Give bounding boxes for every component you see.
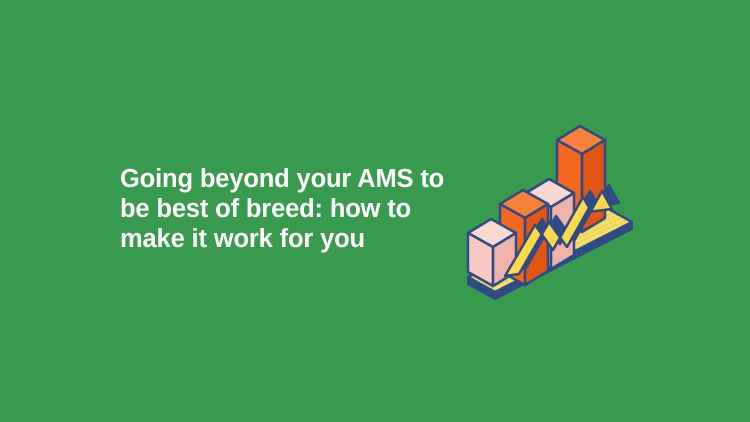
title-block: Going beyond your AMS to be best of bree… xyxy=(120,164,450,254)
page-title: Going beyond your AMS to be best of bree… xyxy=(120,164,450,254)
slide-canvas: Going beyond your AMS to be best of bree… xyxy=(0,0,750,422)
isometric-bar-chart-icon xyxy=(450,100,650,305)
hero-illustration xyxy=(450,100,650,305)
